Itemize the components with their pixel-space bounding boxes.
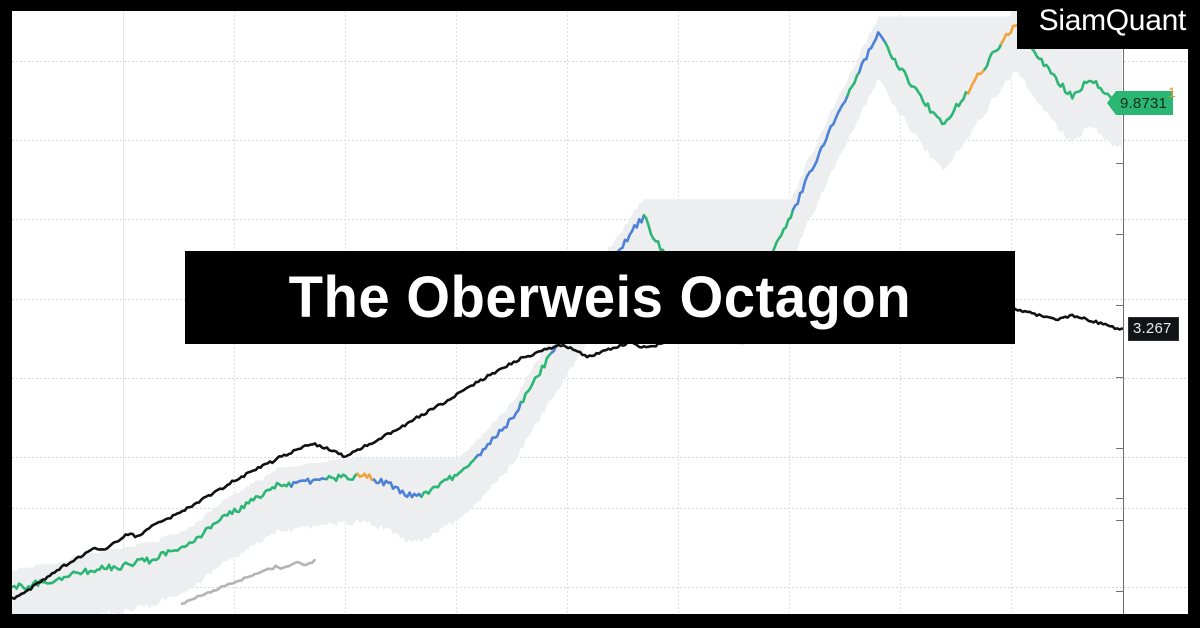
y-axis-tick <box>1116 305 1124 306</box>
y-axis-tick <box>1116 377 1124 378</box>
y-axis-tick <box>1116 520 1124 521</box>
screenshot-frame: 9.8731 3.267 1 The Oberweis Octagon Siam… <box>0 0 1200 628</box>
strategy-price-tag[interactable]: 9.8731 <box>1116 91 1173 115</box>
y-axis-tick <box>1116 591 1124 592</box>
benchmark-price-tag[interactable]: 3.267 <box>1128 317 1179 341</box>
y-axis-top-label: 1 <box>1168 80 1176 104</box>
y-axis-tick <box>1116 498 1124 499</box>
title-banner: The Oberweis Octagon <box>185 251 1015 344</box>
page-title: The Oberweis Octagon <box>289 264 911 331</box>
y-axis-tick <box>1116 234 1124 235</box>
y-axis-tick <box>1116 448 1124 449</box>
y-axis-tick <box>1116 163 1124 164</box>
brand-logo: SiamQuant <box>1017 0 1200 49</box>
